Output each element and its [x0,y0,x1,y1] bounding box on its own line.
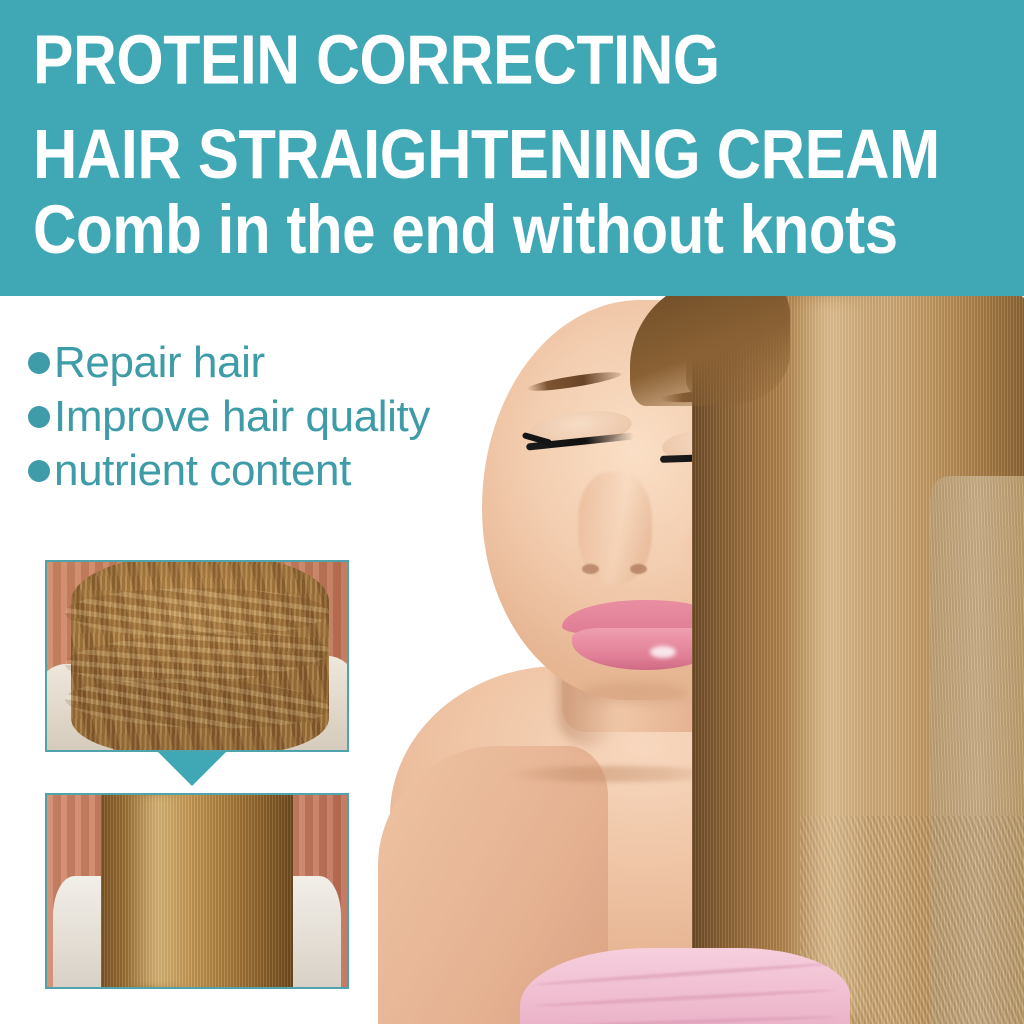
model-nostril-right [630,564,647,574]
model-lip-gloss-highlight [650,646,676,658]
header-banner: PROTEIN CORRECTING HAIR STRAIGHTENING CR… [0,0,1024,296]
bullet-dot-icon [28,352,50,374]
triangle-down-icon [158,752,226,786]
benefits-list: Repair hair Improve hair quality nutrien… [28,336,548,498]
headline-line-1: PROTEIN CORRECTING [33,24,720,94]
benefit-item-improve-hair-quality: Improve hair quality [28,390,548,444]
benefit-label: nutrient content [54,449,351,493]
benefit-label: Repair hair [54,341,265,385]
model-hair-shine [785,296,875,1016]
before-photo [45,560,349,752]
bullet-dot-icon [28,406,50,428]
model-chin-shadow [580,682,690,704]
model-collarbone [505,766,720,782]
headline-line-3: Comb in the end without knots [33,197,898,265]
benefit-label: Improve hair quality [54,395,430,439]
after-hair-shine [125,795,191,987]
after-photo [45,793,349,989]
model-hair-fringe [630,296,790,406]
before-hair-wave [65,588,329,637]
bullet-dot-icon [28,460,50,482]
model-pink-top [520,948,850,1024]
headline-line-2: HAIR STRAIGHTENING CREAM [33,119,940,188]
benefit-item-repair-hair: Repair hair [28,336,548,390]
model-nostril-left [582,564,599,574]
benefit-item-nutrient-content: nutrient content [28,444,548,498]
product-ad-canvas: PROTEIN CORRECTING HAIR STRAIGHTENING CR… [0,0,1024,1024]
